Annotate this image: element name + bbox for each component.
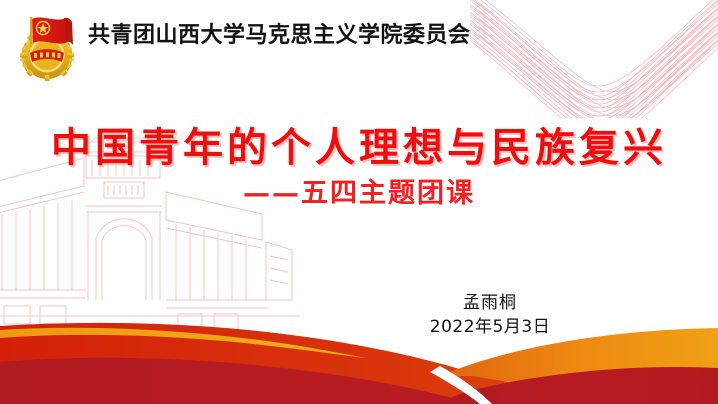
page-subtitle: ——五四主题团课 xyxy=(0,178,718,210)
title-slide: 共青团山西大学马克思主义学院委员会 中国青年的个人理想与民族复兴 ——五四主题团… xyxy=(0,0,718,404)
title-block: 中国青年的个人理想与民族复兴 ——五四主题团课 xyxy=(0,124,718,210)
author-block: 孟雨桐 2022年5月3日 xyxy=(390,292,590,339)
page-title: 中国青年的个人理想与民族复兴 xyxy=(0,124,718,172)
presentation-date: 2022年5月3日 xyxy=(390,315,590,339)
author-name: 孟雨桐 xyxy=(390,292,590,315)
communist-youth-league-emblem xyxy=(12,9,82,81)
emblem-graphic xyxy=(12,9,82,81)
organization-title: 共青团山西大学马克思主义学院委员会 xyxy=(88,21,471,51)
